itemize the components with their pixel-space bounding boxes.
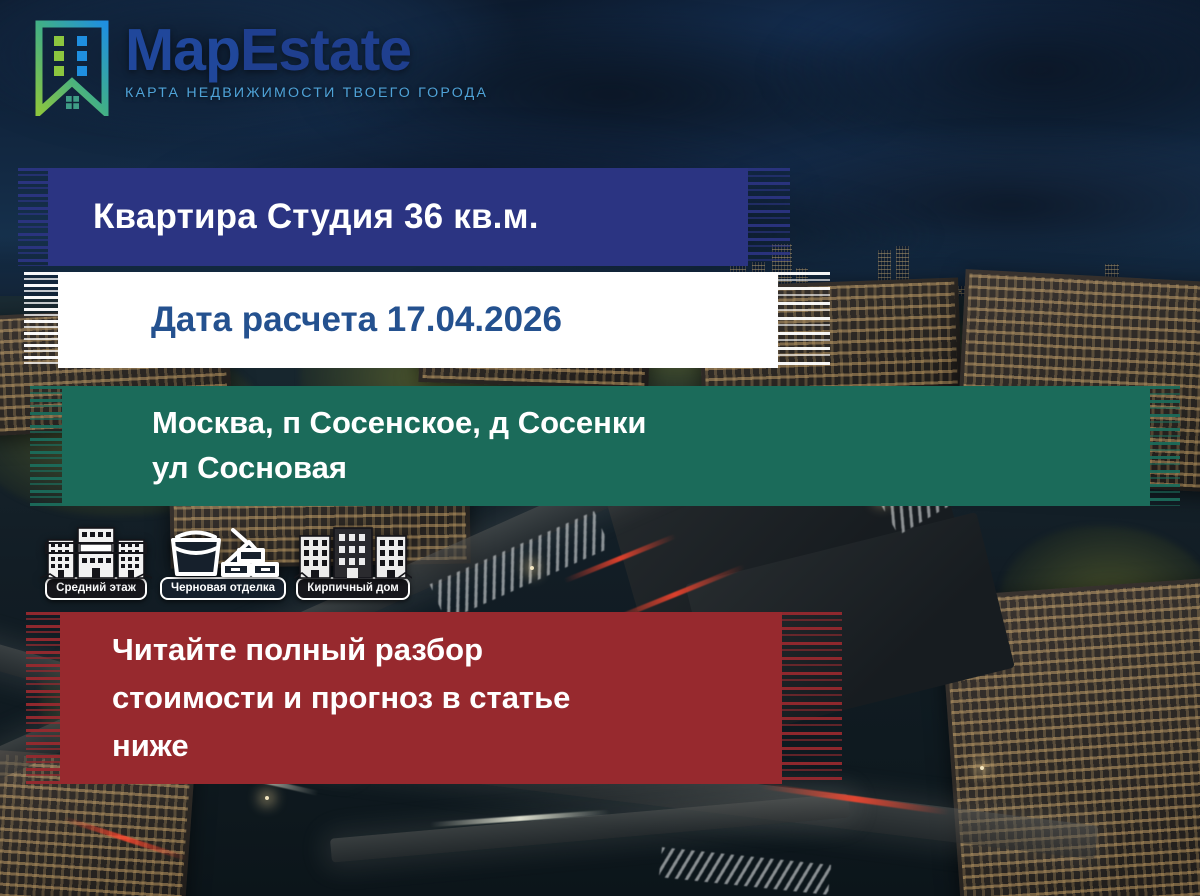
mid-floor-building-icon <box>40 524 152 586</box>
date-banner: Дата расчета 17.04.2026 <box>58 272 778 368</box>
brand-word-map: Map <box>125 17 240 83</box>
brand-word-estate: Estate <box>240 17 411 83</box>
address-banner: Москва, п Сосенское, д Сосенки ул Соснов… <box>62 386 1150 506</box>
feature-rough-finish[interactable]: Черновая отделка <box>160 524 286 600</box>
brick-house-building-icon <box>294 524 412 586</box>
property-features: Средний этаж Черновая отделка <box>40 524 412 600</box>
brush-edge-left <box>18 168 64 266</box>
paint-bucket-trowel-bricks-icon <box>163 524 283 586</box>
brand-wordmark: MapEstate <box>125 22 488 80</box>
address-line-1: Москва, п Сосенское, д Сосенки <box>152 401 646 446</box>
cta-line-2: стоимости и прогноз в статье <box>112 674 570 722</box>
cta-line-1: Читайте полный разбор <box>112 626 570 674</box>
brush-edge-left <box>26 612 82 784</box>
address-line-2: ул Сосновая <box>152 446 646 491</box>
brush-edge-left <box>24 272 80 368</box>
street-lamp <box>980 766 984 770</box>
cta-line-3: ниже <box>112 722 570 770</box>
brush-edge-right <box>1132 386 1180 506</box>
street <box>330 793 850 862</box>
brush-edge-right <box>744 272 830 368</box>
brush-edge-right <box>746 612 842 784</box>
property-address: Москва, п Сосенское, д Сосенки ул Соснов… <box>152 401 646 491</box>
brush-edge-right <box>720 168 790 266</box>
street-lamp <box>265 796 269 800</box>
title-banner: Квартира Студия 36 кв.м. <box>48 168 748 266</box>
street-lamp <box>530 566 534 570</box>
parked-cars <box>659 847 831 895</box>
brush-edge-left <box>30 386 82 506</box>
cta-text: Читайте полный разбор стоимости и прогно… <box>112 626 570 770</box>
feature-mid-floor[interactable]: Средний этаж <box>40 524 152 600</box>
cta-banner[interactable]: Читайте полный разбор стоимости и прогно… <box>60 612 782 784</box>
calculation-date: Дата расчета 17.04.2026 <box>151 300 562 340</box>
property-title: Квартира Студия 36 кв.м. <box>93 197 539 237</box>
brand-text: MapEstate КАРТА НЕДВИЖИМОСТИ ТВОЕГО ГОРО… <box>125 20 488 101</box>
promo-card: MapEstate КАРТА НЕДВИЖИМОСТИ ТВОЕГО ГОРО… <box>0 0 1200 896</box>
feature-brick-house[interactable]: Кирпичный дом <box>294 524 412 600</box>
brand-logo[interactable]: MapEstate КАРТА НЕДВИЖИМОСТИ ТВОЕГО ГОРО… <box>33 20 488 116</box>
bookmark-building-icon <box>33 20 111 116</box>
brand-tagline: КАРТА НЕДВИЖИМОСТИ ТВОЕГО ГОРОДА <box>125 85 488 101</box>
